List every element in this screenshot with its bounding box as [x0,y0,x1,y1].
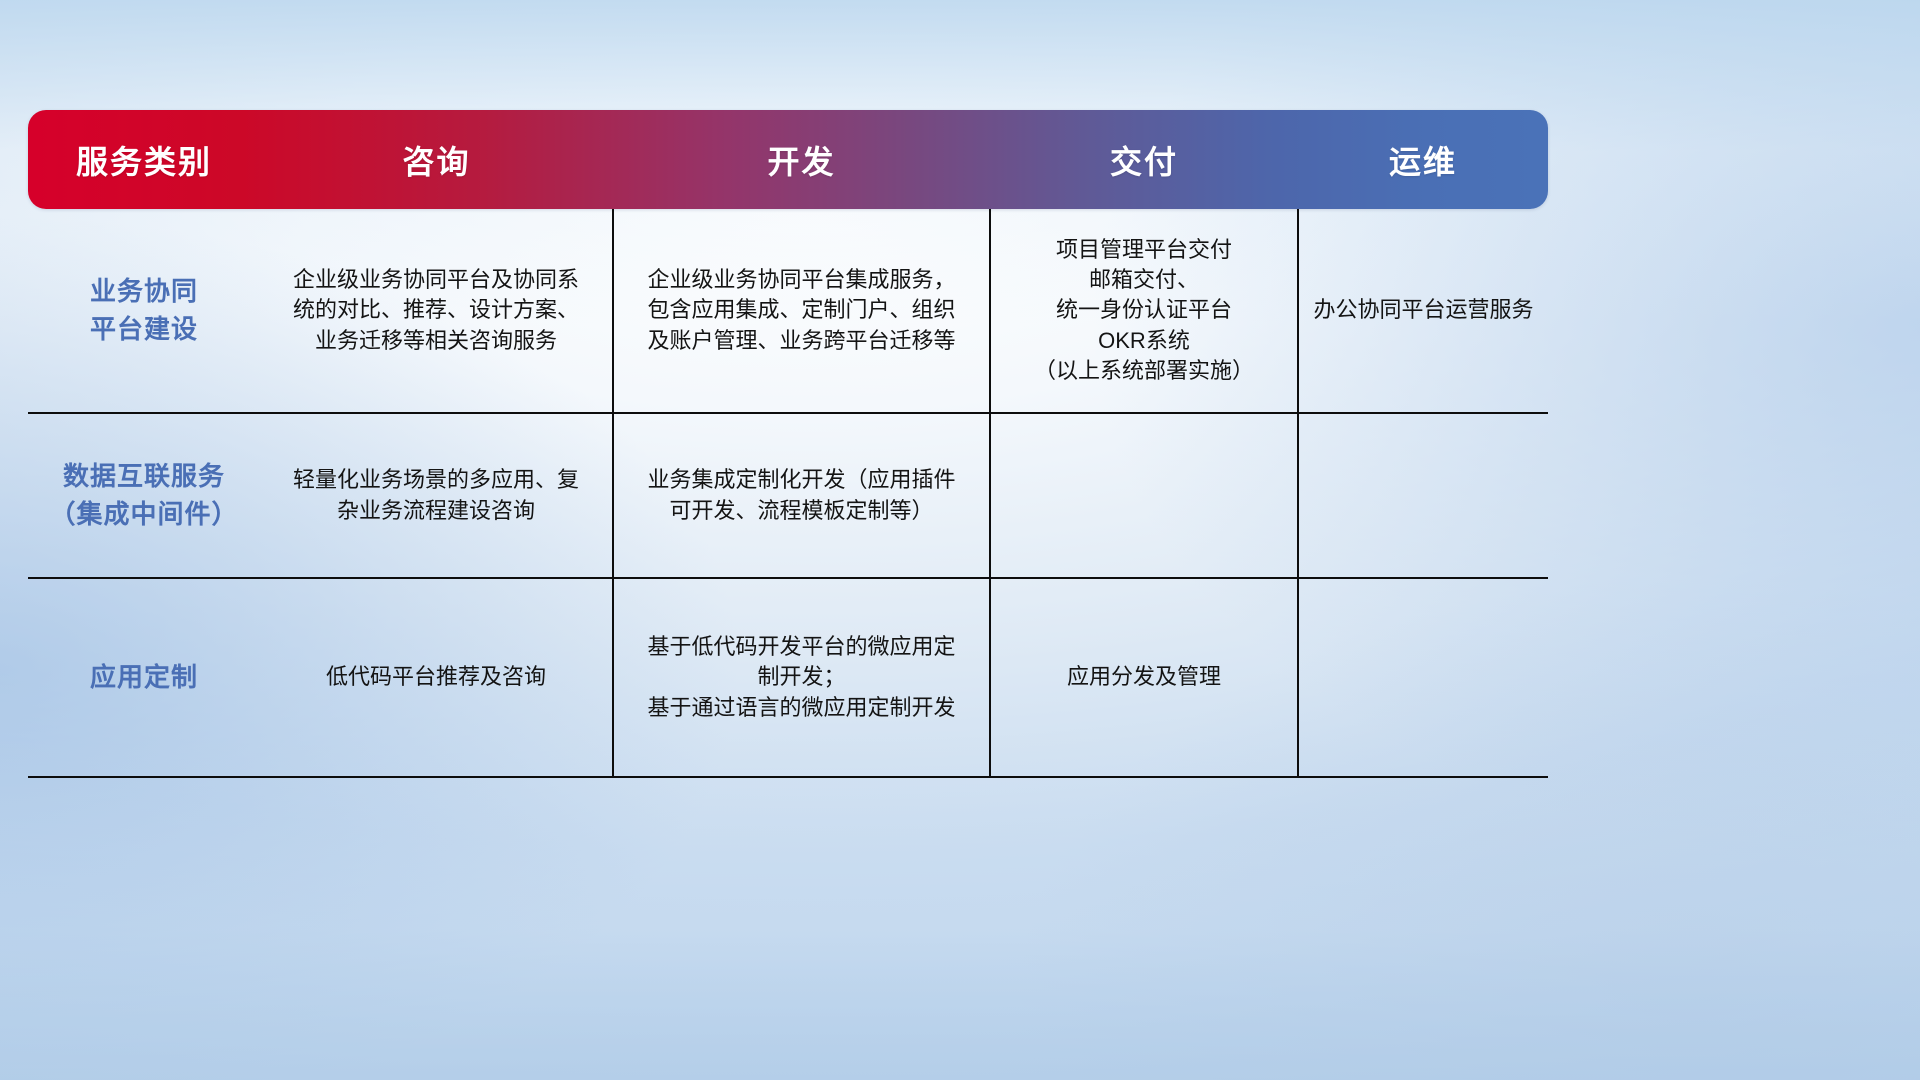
cell-r3-development: 基于低代码开发平台的微应用定 制开发； 基于通过语言的微应用定制开发 [614,579,989,776]
cell-r2-development: 业务集成定制化开发（应用插件 可开发、流程模板定制等） [614,414,989,577]
column-header-delivery: 交付 [990,110,1298,209]
cell-r3-delivery: 应用分发及管理 [991,579,1297,776]
cell-r1-delivery: 项目管理平台交付 邮箱交付、 统一身份认证平台 OKR系统 （以上系统部署实施） [991,209,1297,412]
table-body: 业务协同 平台建设 企业级业务协同平台及协同系 统的对比、推荐、设计方案、 业务… [28,209,1548,778]
cell-r1-consulting: 企业级业务协同平台及协同系 统的对比、推荐、设计方案、 业务迁移等相关咨询服务 [260,209,612,412]
row-label-business-collaboration: 业务协同 平台建设 [28,209,260,412]
column-header-category: 服务类别 [28,110,260,209]
row-label-app-customization: 应用定制 [28,579,260,776]
row-bottom-border [28,776,1548,778]
cell-r1-operations: 办公协同平台运营服务 [1299,209,1548,412]
cell-r2-consulting: 轻量化业务场景的多应用、复 杂业务流程建设咨询 [260,414,612,577]
cell-r2-delivery [991,414,1297,577]
column-header-development: 开发 [613,110,990,209]
column-header-operations: 运维 [1298,110,1548,209]
cell-r3-operations [1299,579,1548,776]
cell-r1-development: 企业级业务协同平台集成服务， 包含应用集成、定制门户、组织 及账户管理、业务跨平… [614,209,989,412]
row-label-data-interconnect: 数据互联服务 （集成中间件） [28,414,260,577]
column-header-consulting: 咨询 [260,110,613,209]
service-matrix-table: 服务类别 咨询 开发 交付 运维 业务协同 平台建设 企业级业务协同平台及协同系… [28,110,1548,778]
table-header-row: 服务类别 咨询 开发 交付 运维 [28,110,1548,209]
cell-r2-operations [1299,414,1548,577]
cell-r3-consulting: 低代码平台推荐及咨询 [260,579,612,776]
